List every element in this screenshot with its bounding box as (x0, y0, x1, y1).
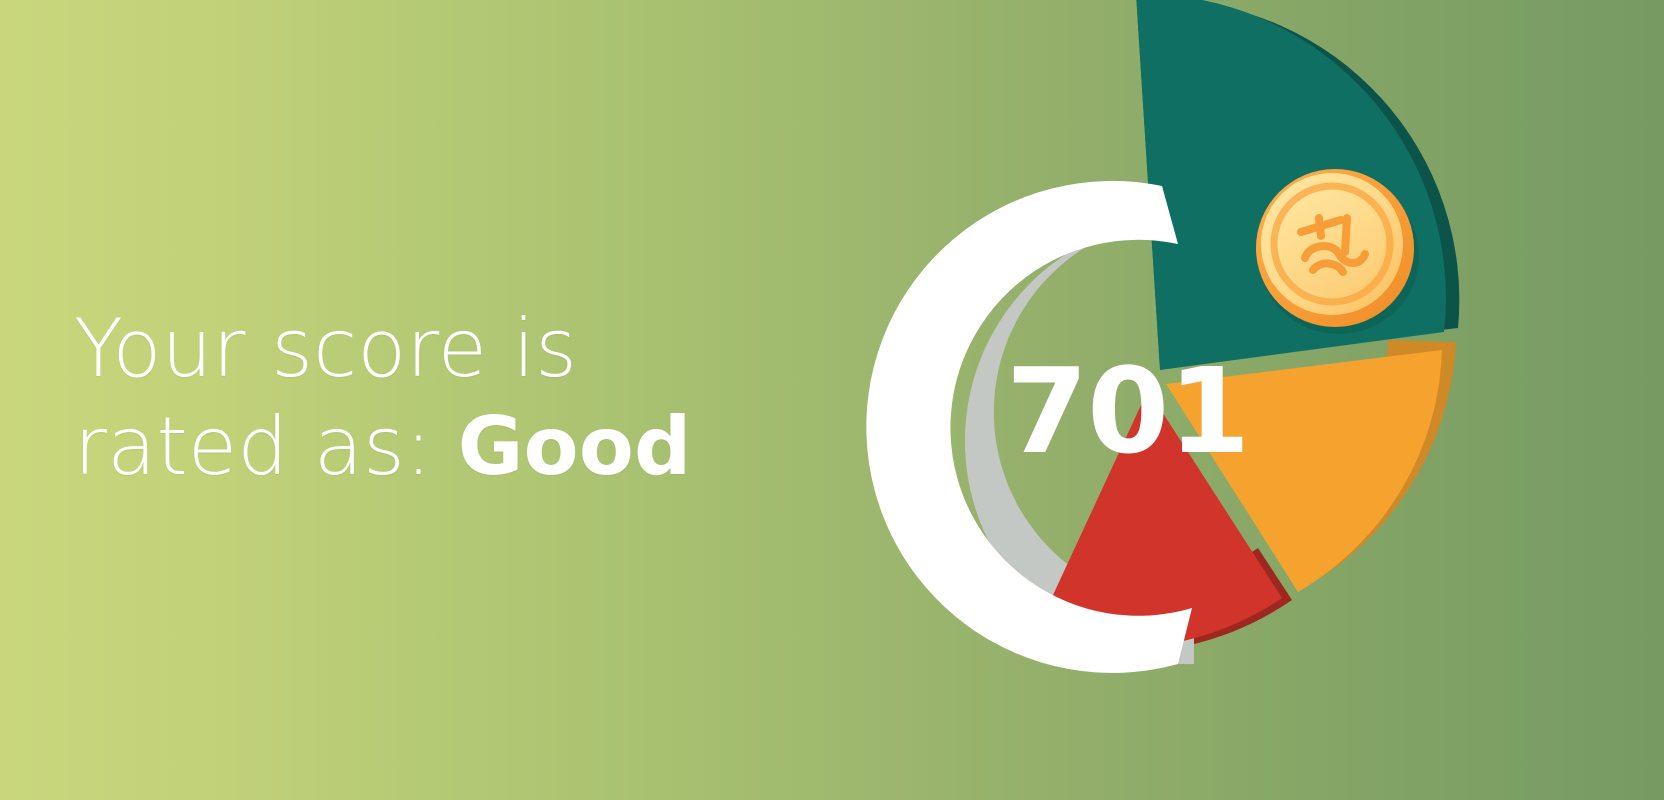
score-rating-label: Good (458, 400, 692, 493)
score-message-prefix: rated as: (74, 400, 458, 493)
score-message: Your score is rated as: Good (74, 300, 714, 495)
credit-score-banner: Your score is rated as: Good (0, 0, 1664, 800)
score-message-line-2: rated as: Good (74, 398, 714, 496)
score-value: 701 (1006, 352, 1246, 470)
score-message-line-1: Your score is (74, 300, 714, 398)
